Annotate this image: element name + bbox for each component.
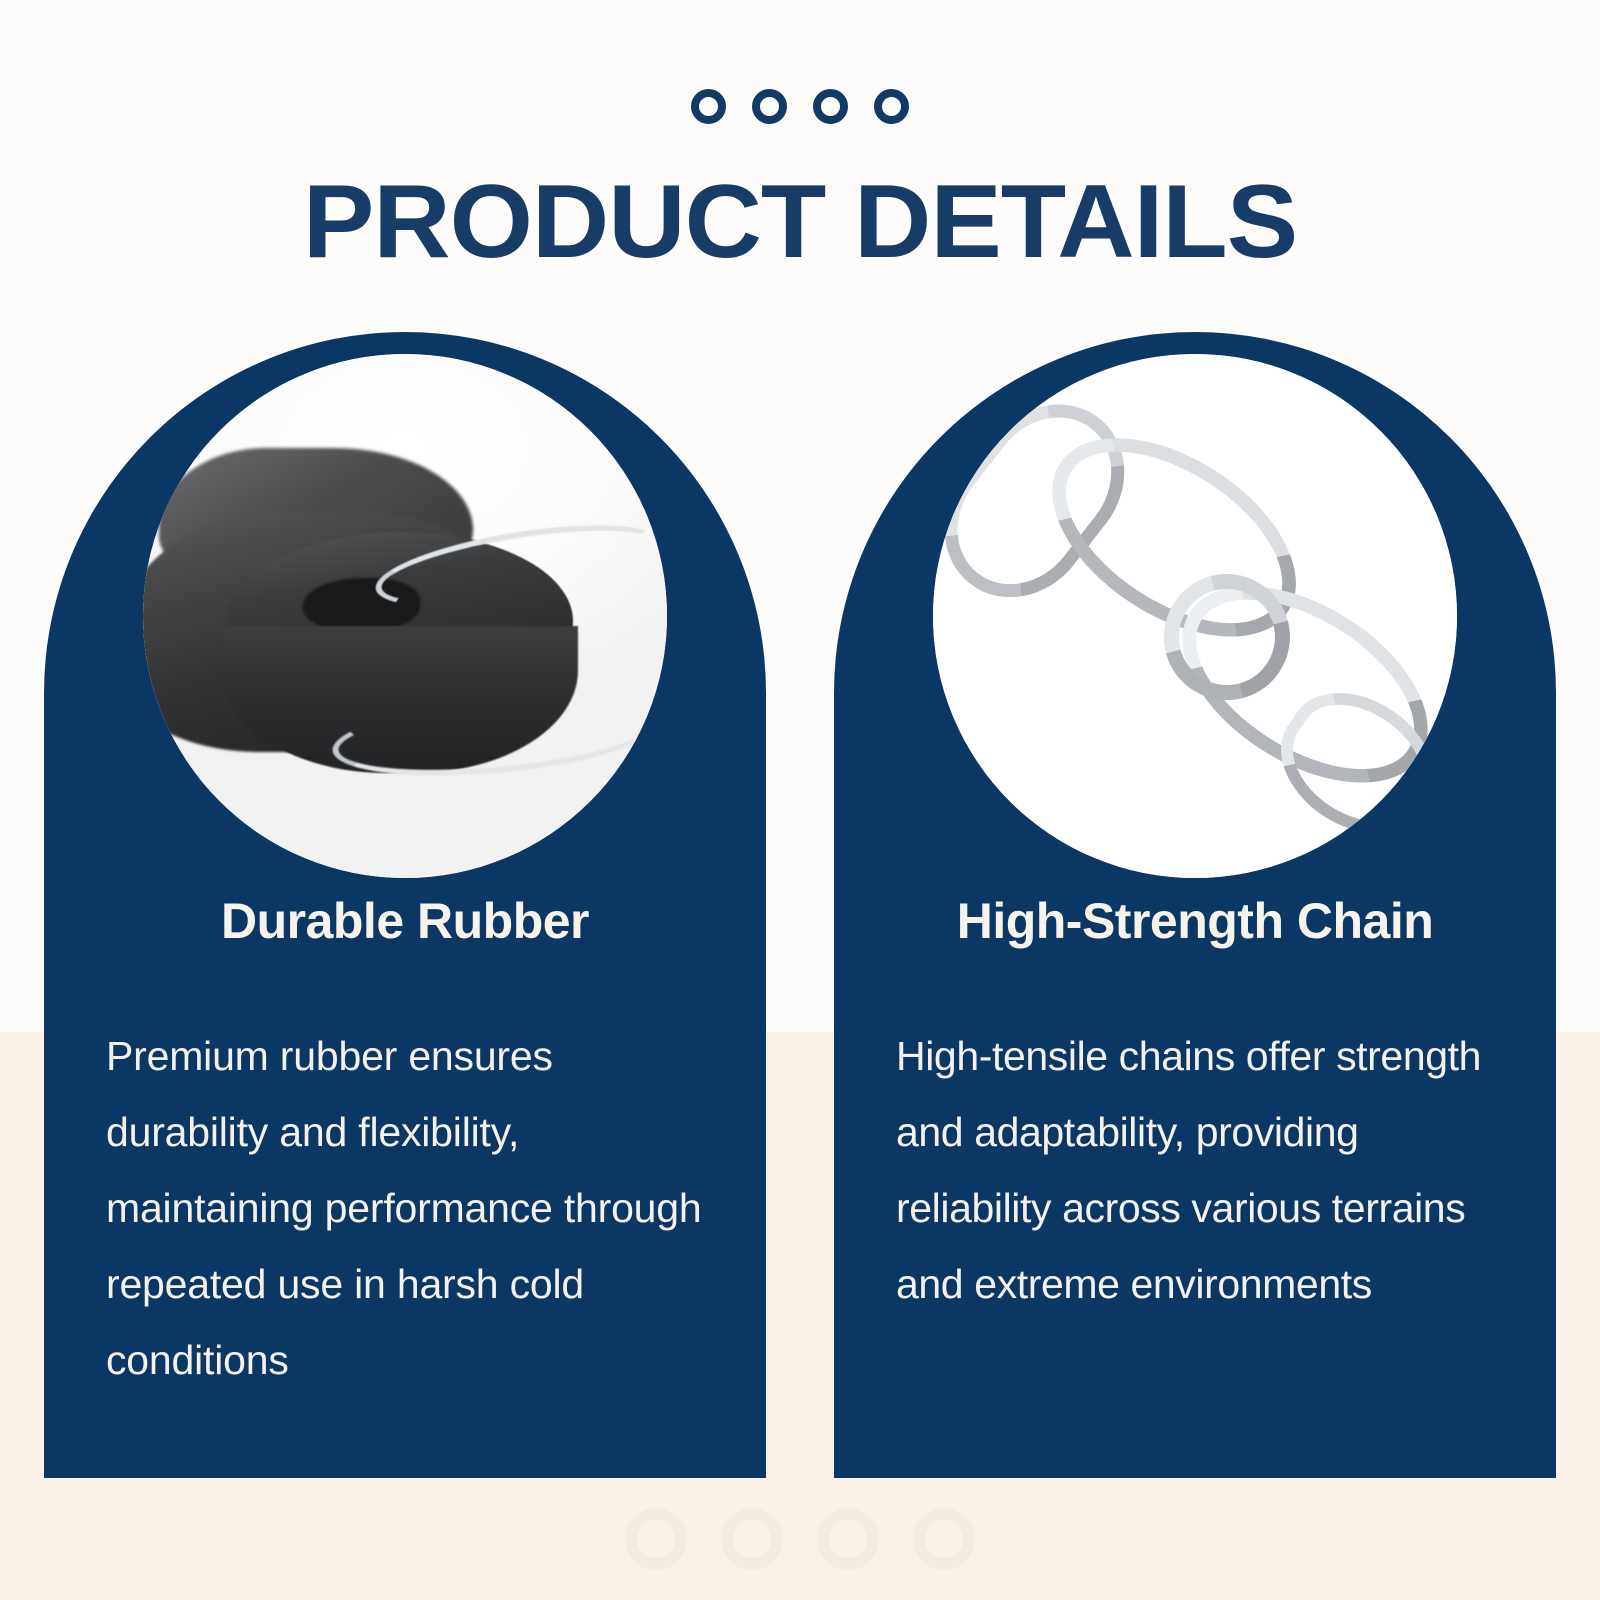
ring-dot-icon <box>813 89 848 124</box>
card-text-block: Durable Rubber Premium rubber ensures du… <box>44 892 766 1398</box>
ring-dot-icon <box>874 89 909 124</box>
ring-dot-icon <box>752 89 787 124</box>
ring-dot-icon <box>691 89 726 124</box>
page-title: PRODUCT DETAILS <box>0 166 1600 278</box>
feature-card-high-strength-chain: High-Strength Chain High-tensile chains … <box>834 332 1556 1478</box>
watermark-dots-row <box>0 1478 1600 1600</box>
watermark-ring-icon <box>721 1508 783 1570</box>
steel-chain-links-closeup-photo <box>933 354 1457 878</box>
rubber-latch-closeup-photo <box>143 354 667 878</box>
card-body-text: Premium rubber ensures durability and fl… <box>106 1018 704 1398</box>
watermark-ring-icon <box>817 1508 879 1570</box>
watermark-ring-icon <box>913 1508 975 1570</box>
feature-card-durable-rubber: Durable Rubber Premium rubber ensures du… <box>44 332 766 1478</box>
card-heading: High-Strength Chain <box>896 892 1494 950</box>
watermark-ring-icon <box>625 1508 687 1570</box>
feature-cards-row: Durable Rubber Premium rubber ensures du… <box>44 332 1556 1478</box>
card-heading: Durable Rubber <box>106 892 704 950</box>
card-body-text: High-tensile chains offer strength and a… <box>896 1018 1494 1322</box>
card-text-block: High-Strength Chain High-tensile chains … <box>834 892 1556 1322</box>
decorative-dots-row <box>0 86 1600 126</box>
